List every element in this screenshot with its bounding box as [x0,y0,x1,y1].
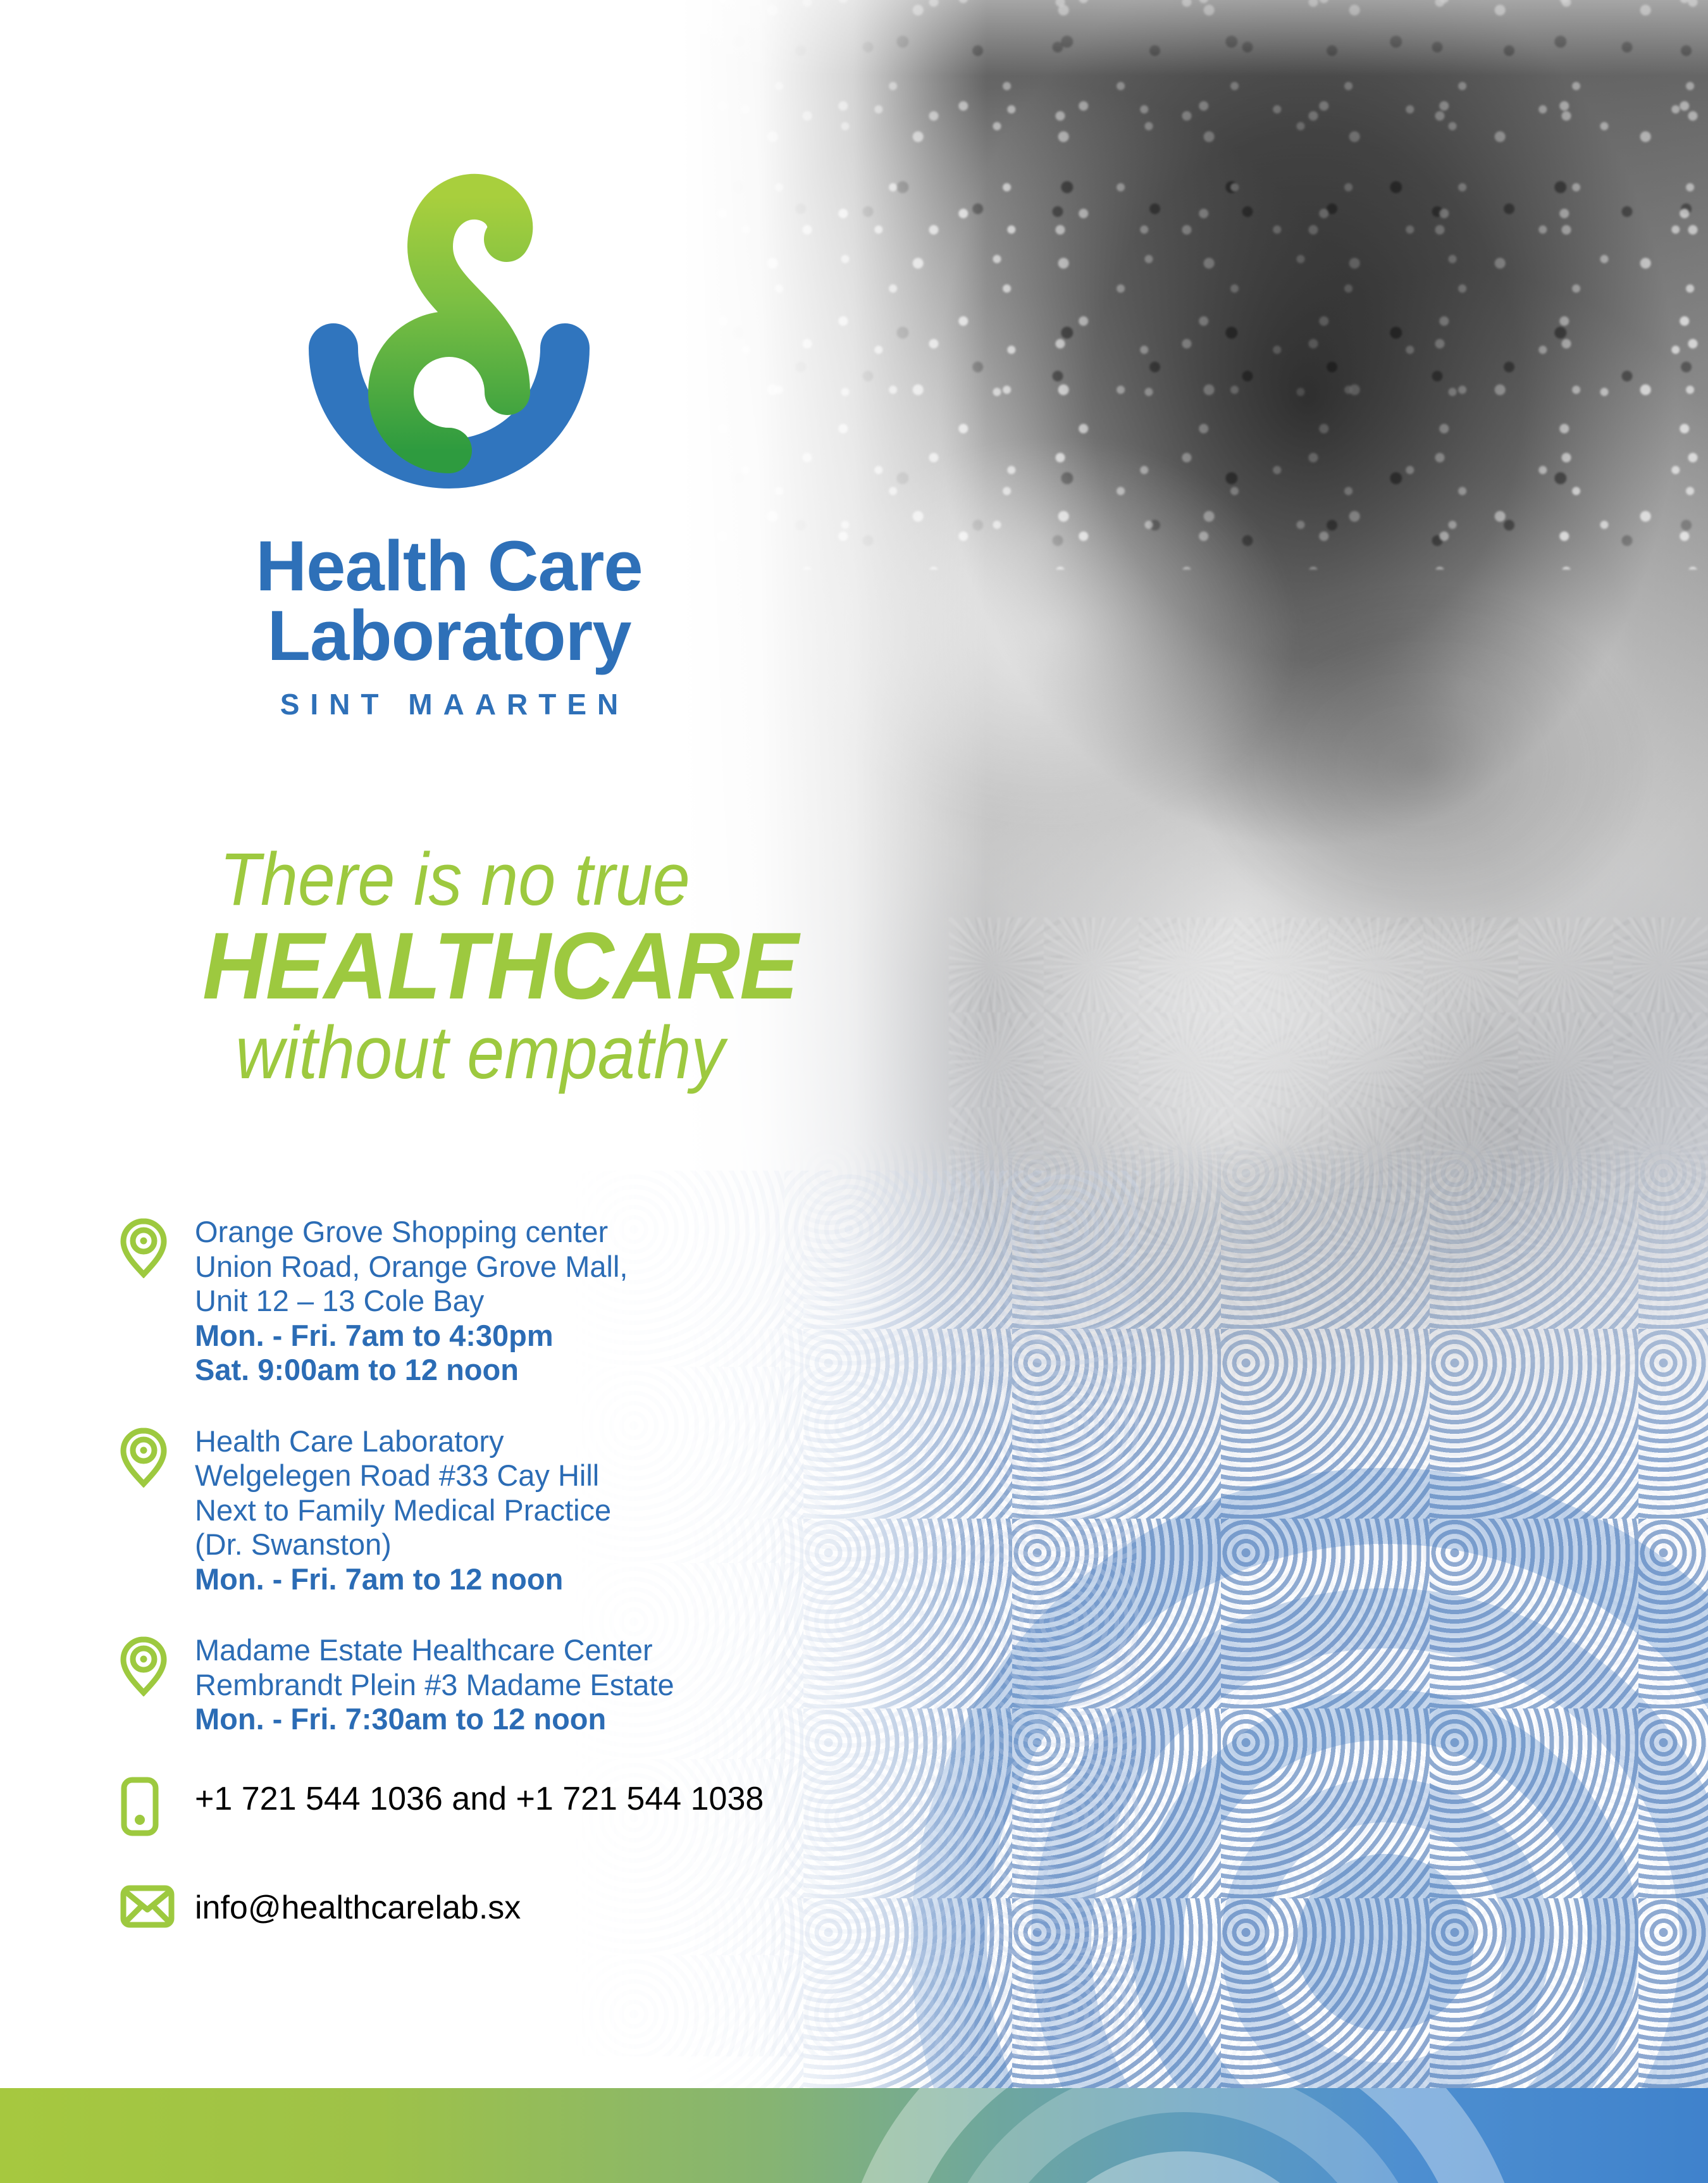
brand-logo: Health Care Laboratory SINT MAARTEN [247,158,652,721]
content-column: Health Care Laboratory SINT MAARTEN Ther… [0,0,841,2183]
address-line: Rembrandt Plein #3 Madame Estate [195,1668,841,1703]
address-line: Health Care Laboratory [195,1424,841,1459]
footer-rings [835,2088,1531,2183]
location-text: Orange Grove Shopping center Union Road,… [195,1215,841,1388]
map-pin-icon [120,1215,195,1278]
hours-line: Mon. - Fri. 7:30am to 12 noon [195,1702,841,1737]
address-line: Union Road, Orange Grove Mall, [195,1250,841,1284]
location-item: Health Care Laboratory Welgelegen Road #… [120,1424,841,1597]
hours-line: Mon. - Fri. 7am to 4:30pm [195,1319,841,1353]
map-pin-icon [120,1633,195,1696]
phone-item[interactable]: +1 721 544 1036 and +1 721 544 1038 [120,1774,841,1837]
tagline: There is no true HEALTHCARE without empa… [202,842,835,1093]
address-line: Welgelegen Road #33 Cay Hill [195,1458,841,1493]
tagline-line3: without empathy [202,1014,772,1093]
tagline-line1: There is no true [202,842,772,917]
location-item: Madame Estate Healthcare Center Rembrand… [120,1633,841,1737]
location-text: Madame Estate Healthcare Center Rembrand… [195,1633,841,1737]
address-line: Next to Family Medical Practice [195,1493,841,1528]
hours-line: Sat. 9:00am to 12 noon [195,1353,841,1388]
phone-number[interactable]: +1 721 544 1036 and +1 721 544 1038 [195,1774,764,1817]
address-line: Madame Estate Healthcare Center [195,1633,841,1668]
footer-gradient-bar [0,2088,1708,2183]
address-line: (Dr. Swanston) [195,1527,841,1562]
flame-swirl-logo-icon [300,158,598,538]
address-line: Orange Grove Shopping center [195,1215,841,1250]
contact-list: Orange Grove Shopping center Union Road,… [120,1215,841,1928]
brand-location: SINT MAARTEN [247,687,652,721]
hours-line: Mon. - Fri. 7am to 12 noon [195,1562,841,1597]
brand-wordmark: Health Care Laboratory SINT MAARTEN [247,532,652,721]
location-item: Orange Grove Shopping center Union Road,… [120,1215,841,1388]
map-pin-icon [120,1424,195,1488]
brand-name-line1: Health Care [247,532,652,601]
envelope-icon [120,1882,195,1928]
brand-name-line2: Laboratory [247,601,652,671]
address-line: Unit 12 – 13 Cole Bay [195,1284,841,1319]
location-text: Health Care Laboratory Welgelegen Road #… [195,1424,841,1597]
email-address[interactable]: info@healthcarelab.sx [195,1882,521,1926]
poster: Health Care Laboratory SINT MAARTEN Ther… [0,0,1708,2183]
mobile-phone-icon [120,1774,195,1837]
email-item[interactable]: info@healthcarelab.sx [120,1882,841,1928]
tagline-line2: HEALTHCARE [202,917,791,1014]
